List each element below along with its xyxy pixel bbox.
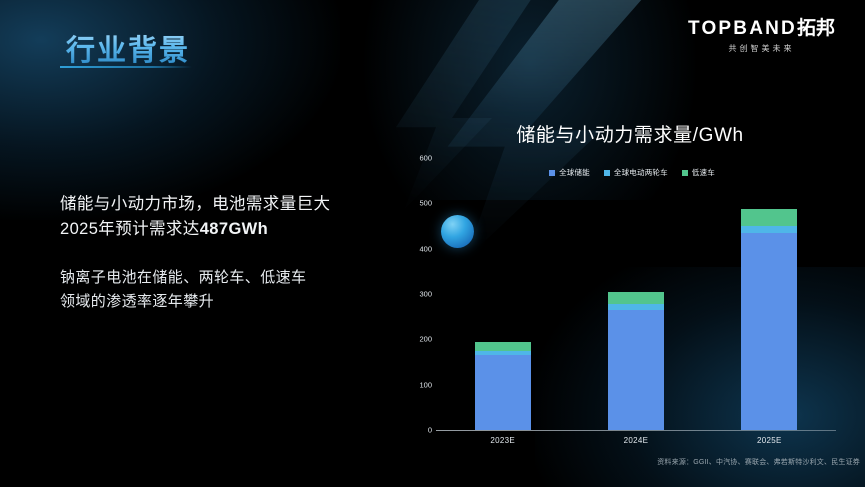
logo-wordmark-en: TOPBAND — [688, 18, 797, 39]
x-axis-tick-label-1: 2024E — [591, 436, 681, 445]
logo-wordmark-cn: 拓邦 — [797, 18, 835, 39]
bar-2025E[interactable] — [741, 209, 797, 430]
logo-wordmark: TOPBAND拓邦 — [688, 13, 835, 40]
bar-2023E[interactable] — [475, 342, 531, 430]
y-axis-tick-label-0: 0 — [428, 426, 432, 435]
y-axis-tick-label-5: 500 — [419, 199, 432, 208]
bar-segment[interactable] — [608, 292, 664, 305]
bar-2024E[interactable] — [608, 292, 664, 430]
x-axis-tick-label-2: 2025E — [724, 436, 814, 445]
lead-line-2-prefix: 2025年预计需求达 — [60, 220, 200, 238]
x-axis-tick-label-0: 2023E — [458, 436, 548, 445]
sub-line-2: 领域的渗透率逐年攀升 — [60, 290, 360, 314]
slide-canvas: 行业背景 TOPBAND拓邦 共创智美未来 储能与小动力市场，电池需求量巨大 2… — [0, 0, 865, 487]
y-axis-tick-label-2: 200 — [419, 335, 432, 344]
chart-source-note: 资料来源：GGII、中汽协、赛联会、弗若斯特沙利文、民生证券 — [550, 457, 860, 467]
bar-segment[interactable] — [475, 355, 531, 430]
title-underline — [60, 66, 192, 68]
x-axis-line — [436, 430, 836, 431]
logo-tagline: 共创智美未来 — [688, 43, 835, 54]
lead-line-2-highlight: 487GWh — [200, 220, 268, 238]
chart-panel: 储能与小动力需求量/GWh 全球储能全球电动两轮车低速车 01002003004… — [400, 105, 860, 485]
bar-segment[interactable] — [475, 342, 531, 351]
left-copy-block: 储能与小动力市场，电池需求量巨大 2025年预计需求达487GWh 钠离子电池在… — [60, 192, 360, 314]
y-axis-tick-label-3: 300 — [419, 290, 432, 299]
bar-segment[interactable] — [608, 310, 664, 430]
y-axis-tick-label-6: 600 — [419, 154, 432, 163]
chart-title: 储能与小动力需求量/GWh — [400, 120, 860, 147]
sub-line-1: 钠离子电池在储能、两轮车、低速车 — [60, 266, 360, 290]
bar-segment[interactable] — [741, 209, 797, 226]
y-axis-tick-label-1: 100 — [419, 380, 432, 389]
bar-segment[interactable] — [741, 233, 797, 430]
y-axis-tick-label-4: 400 — [419, 244, 432, 253]
chart-plot-area: 01002003004005006002023E2024E2025E — [436, 158, 836, 430]
sub-paragraph: 钠离子电池在储能、两轮车、低速车 领域的渗透率逐年攀升 — [60, 266, 360, 314]
brand-logo: TOPBAND拓邦 共创智美未来 — [688, 13, 835, 54]
lead-paragraph: 储能与小动力市场，电池需求量巨大 2025年预计需求达487GWh — [60, 192, 360, 242]
lead-line-2: 2025年预计需求达487GWh — [60, 217, 360, 242]
lead-line-1: 储能与小动力市场，电池需求量巨大 — [60, 192, 360, 217]
page-title: 行业背景 — [66, 27, 190, 69]
